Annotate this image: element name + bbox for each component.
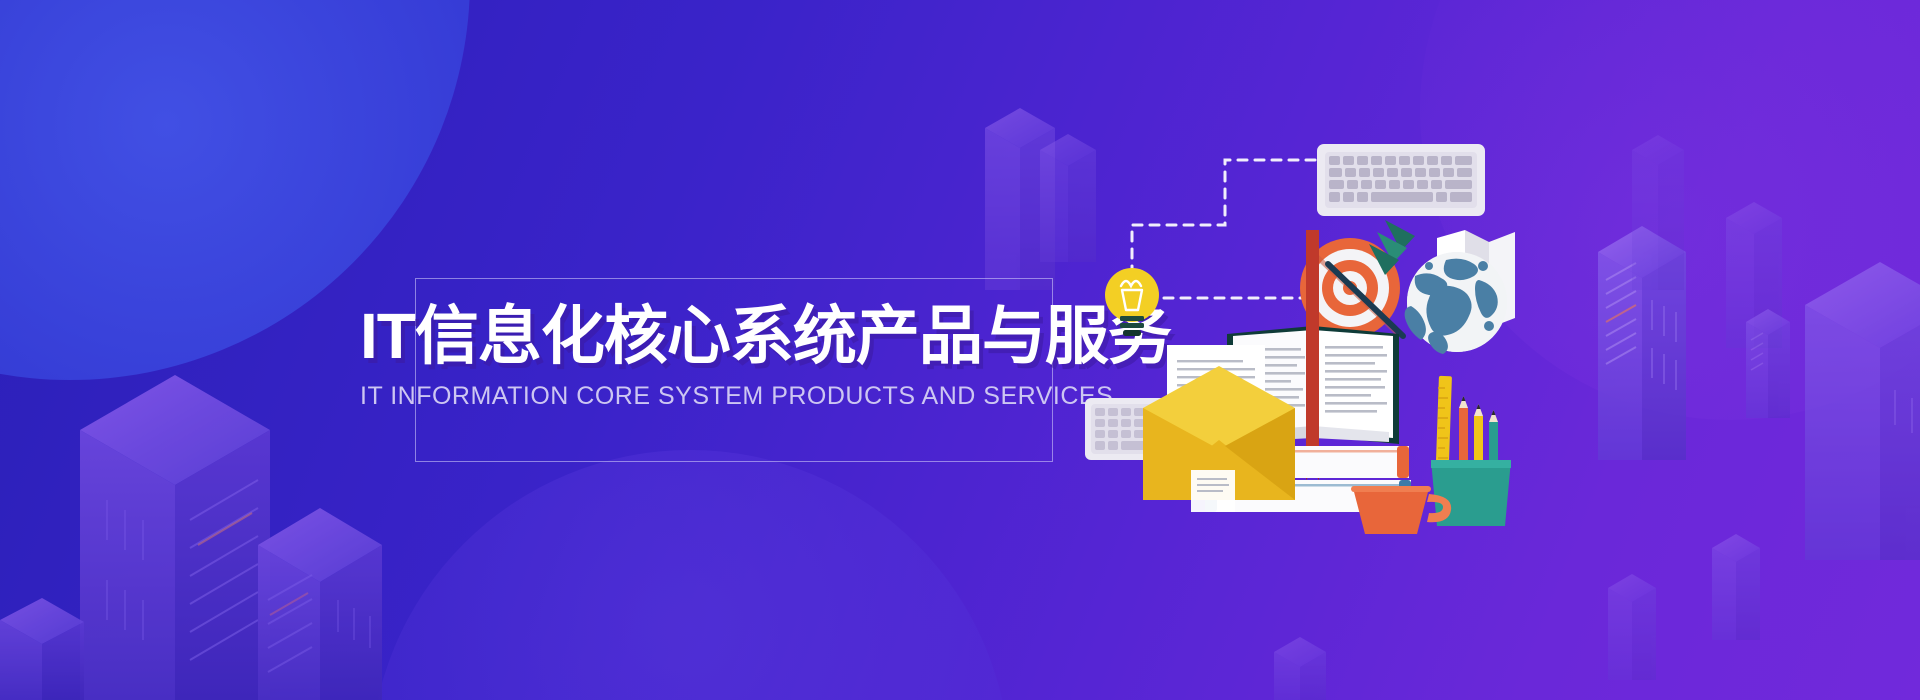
building-center-low bbox=[1274, 637, 1326, 700]
hero-illustration bbox=[1085, 120, 1555, 570]
keyboard-top-icon bbox=[1317, 144, 1485, 216]
page-title: IT信息化核心系统产品与服务 bbox=[360, 304, 1171, 368]
building-right-low bbox=[1712, 534, 1760, 640]
lightbulb-icon bbox=[1105, 268, 1159, 336]
building-left-short bbox=[258, 508, 382, 700]
building-right-faint bbox=[1632, 135, 1684, 290]
loose-page-icon bbox=[1191, 470, 1235, 512]
building-left-tall bbox=[80, 375, 270, 700]
headline-block: IT信息化核心系统产品与服务 IT INFORMATION CORE SYSTE… bbox=[415, 278, 1053, 462]
building-far-left bbox=[0, 598, 84, 700]
dashed-connector-icon bbox=[1132, 160, 1317, 298]
hero-banner: IT信息化核心系统产品与服务 IT INFORMATION CORE SYSTE… bbox=[0, 0, 1920, 700]
building-right-block bbox=[1805, 262, 1920, 560]
page-subtitle: IT INFORMATION CORE SYSTEM PRODUCTS AND … bbox=[360, 384, 1113, 409]
building-right-small bbox=[1746, 309, 1790, 418]
globe-icon bbox=[1405, 252, 1507, 354]
building-right-lowest bbox=[1608, 574, 1656, 680]
